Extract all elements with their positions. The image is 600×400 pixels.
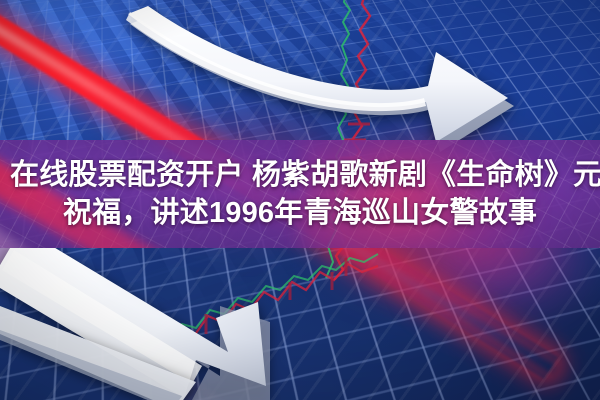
arrow-down-left-tail-icon [0,300,240,400]
caption-text-block: 在线股票配资开户 杨紫胡歌新剧《生命树》元旦送 祝福，讲述1996年青海巡山女警… [0,140,600,248]
arrow-tail-shadow [0,330,182,400]
caption-line-2: 祝福，讲述1996年青海巡山女警故事 [6,194,594,232]
arrow-right-face [128,6,508,142]
arrow-tail-face [0,306,196,400]
caption-line-1: 在线股票配资开户 杨紫胡歌新剧《生命树》元旦送 [6,156,594,194]
banner-image: 在线股票配资开户 杨紫胡歌新剧《生命树》元旦送 祝福，讲述1996年青海巡山女警… [0,0,600,400]
